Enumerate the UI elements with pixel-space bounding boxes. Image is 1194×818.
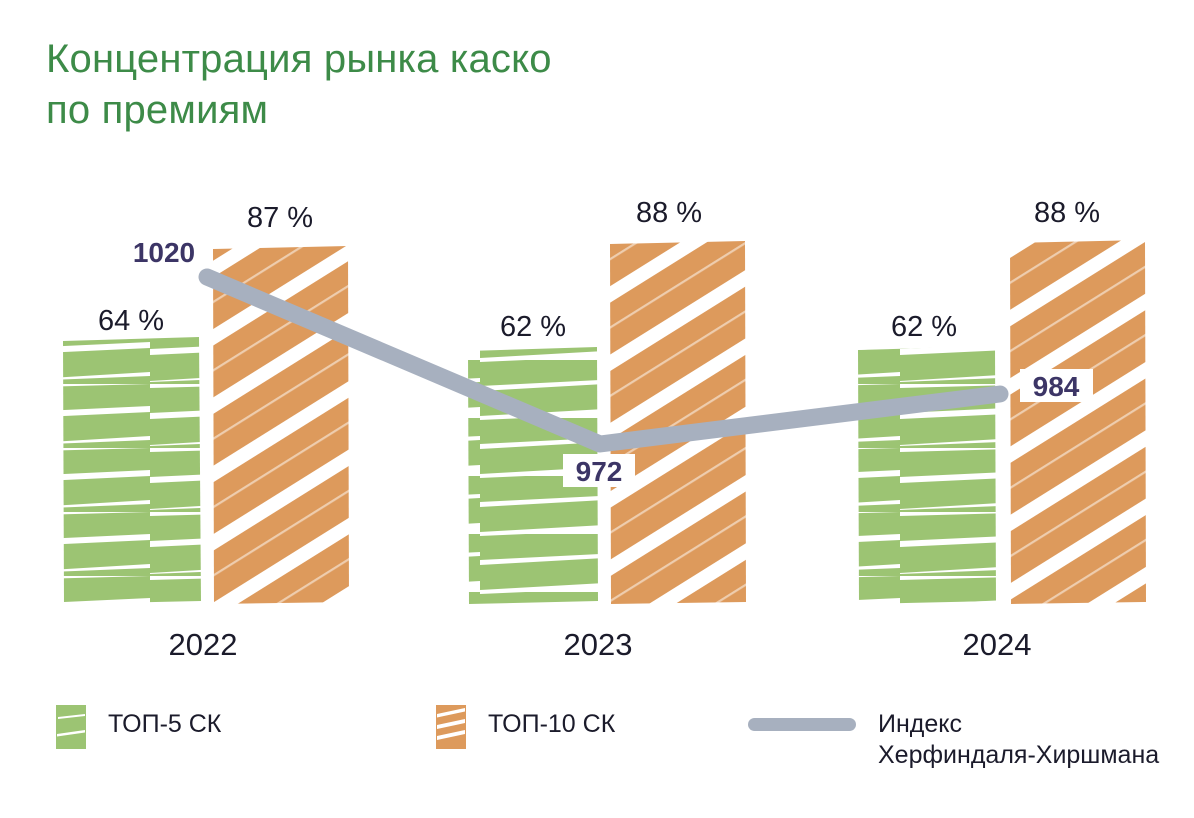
legend-item-top10[interactable]: ТОП-10 СК <box>436 705 615 749</box>
bar-label-top10-2024: 88 % <box>1034 197 1100 229</box>
chart-canvas: Концентрация рынка каско по премиям <box>0 0 1194 818</box>
legend-label-top5: ТОП-5 СК <box>108 705 221 740</box>
bar-group-2022 <box>55 235 365 620</box>
bar-top10-2024[interactable] <box>1000 230 1160 620</box>
chart-legend: ТОП-5 СК ТОП-10 СК Индекс Херфиндаля-Хир… <box>0 700 1194 800</box>
index-label-2023: 972 <box>563 454 635 487</box>
green-hatch-swatch-icon <box>56 705 86 749</box>
legend-label-index: Индекс Херфиндаля-Хиршмана <box>878 705 1159 771</box>
index-label-2022-text: 1020 <box>133 237 195 268</box>
chart-plot-area: 64 % 62 % 62 % 87 % 88 % 88 % 1020 972 9… <box>0 0 1194 818</box>
bar-top5-2024[interactable] <box>850 340 1010 620</box>
x-axis-label-2022: 2022 <box>169 627 238 662</box>
index-label-2022: 1020 <box>124 237 204 268</box>
bar-group-2024 <box>850 230 1160 620</box>
legend-label-top10: ТОП-10 СК <box>488 705 615 740</box>
bar-label-top5-2022: 64 % <box>98 305 164 337</box>
bar-label-top10-2022: 87 % <box>247 202 313 234</box>
bar-label-top10-2023: 88 % <box>636 197 702 229</box>
bar-top5-2022[interactable] <box>55 330 215 620</box>
index-label-2024-text: 984 <box>1033 371 1080 402</box>
bar-label-top5-2024: 62 % <box>891 311 957 343</box>
bar-label-top5-2023: 62 % <box>500 311 566 343</box>
index-label-2023-text: 972 <box>576 456 623 487</box>
orange-hatch-swatch-icon <box>436 705 466 749</box>
legend-item-index[interactable]: Индекс Херфиндаля-Хиршмана <box>748 705 1159 771</box>
index-label-2024: 984 <box>1020 369 1093 402</box>
x-axis-label-2024: 2024 <box>963 627 1032 662</box>
gray-line-swatch-icon <box>748 718 856 731</box>
x-axis-label-2023: 2023 <box>564 627 633 662</box>
legend-item-top5[interactable]: ТОП-5 СК <box>56 705 221 749</box>
